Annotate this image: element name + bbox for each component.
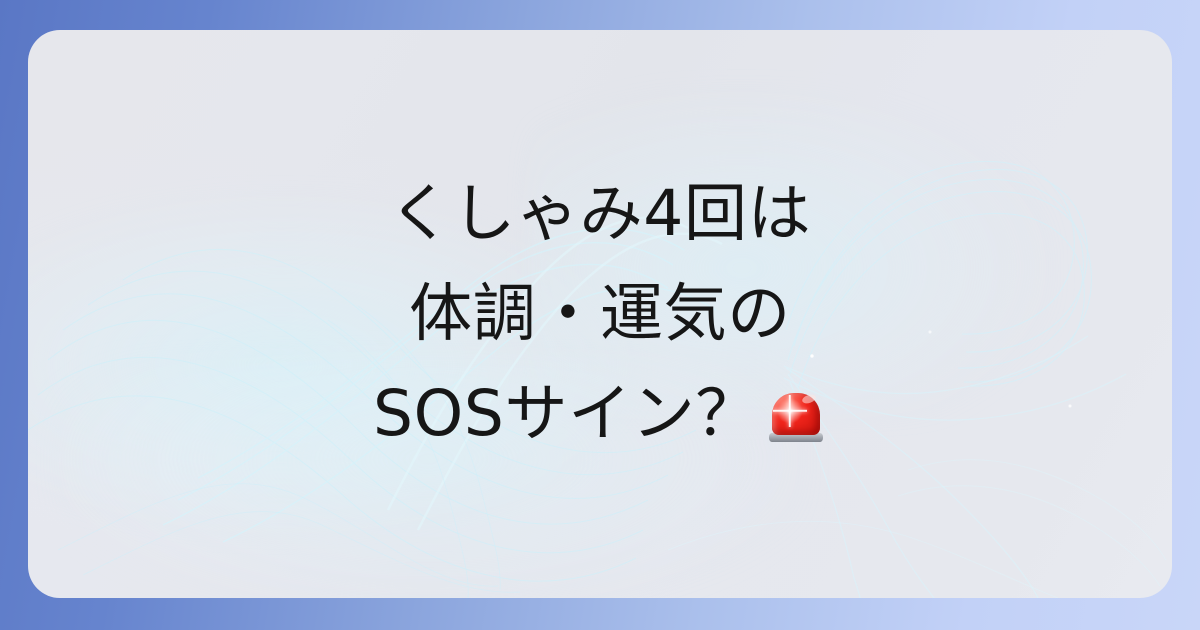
headline-line-2: 体調・運気の: [409, 264, 791, 364]
content-card: くしゃみ4回は 体調・運気の SOSサイン？: [28, 30, 1172, 598]
headline-line-3-text: SOSサイン？: [373, 364, 759, 464]
alert-beacon-icon: [765, 382, 827, 444]
ogp-headline: くしゃみ4回は 体調・運気の SOSサイン？: [28, 30, 1172, 598]
beacon-flare-part: [775, 396, 805, 426]
headline-line-3: SOSサイン？: [373, 364, 827, 464]
headline-line-1: くしゃみ4回は: [389, 164, 812, 264]
ogp-frame: くしゃみ4回は 体調・運気の SOSサイン？: [0, 0, 1200, 630]
